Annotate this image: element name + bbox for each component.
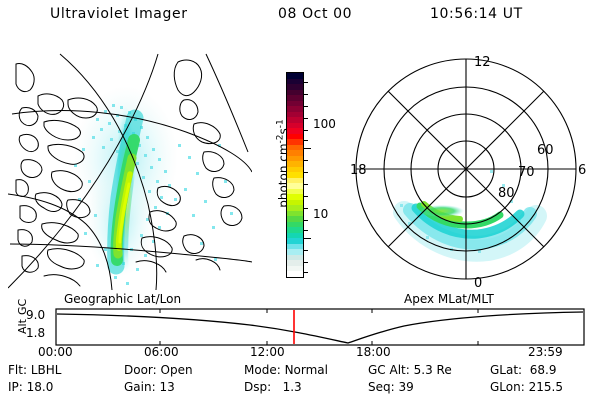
status-readout: Flt: LBHL Door: Open Mode: Normal GC Alt… [0, 363, 600, 399]
uvi-display: Ultraviolet Imager 08 Oct 00 10:56:14 UT [0, 0, 600, 400]
colorbar-panel: photon cm-2s-1 100 10 [255, 48, 345, 292]
polar-emission-layer [400, 170, 536, 253]
geographic-panel-caption: Geographic Lat/Lon [64, 292, 181, 306]
colorbar-minor-tick-9 [304, 196, 308, 197]
colorbar-minor-tick-10 [304, 208, 308, 209]
polar-grid-spokes [356, 59, 576, 279]
colorbar-gradient [286, 72, 304, 278]
colorbar-band-36 [287, 271, 303, 277]
orbit-xtick-4: 23:59 [528, 345, 563, 359]
polar-mlt-label-0: 0 [474, 276, 482, 291]
polar-mlt-label-12: 12 [474, 55, 491, 70]
colorbar-label-100: 100 [313, 118, 336, 130]
colorbar-minor-tick-7 [304, 172, 308, 173]
orbit-xtick-2: 12:00 [250, 345, 285, 359]
geographic-map-svg [8, 48, 252, 292]
status-seq: Seq: 39 [368, 380, 414, 394]
page-title: Ultraviolet Imager [50, 6, 188, 22]
colorbar-minor-tick-15 [304, 272, 308, 273]
geographic-map-panel [8, 48, 252, 292]
orbit-altitude-panel [0, 305, 600, 365]
status-ip: IP: 18.0 [8, 380, 53, 394]
polar-mlt-label-18: 18 [350, 163, 367, 178]
colorbar-minor-tick-6 [304, 160, 308, 161]
colorbar-minor-tick-13 [304, 250, 308, 251]
polar-dial-panel: 12 6 0 18 60 70 80 [338, 44, 594, 294]
colorbar-label-10: 10 [313, 208, 328, 220]
orbit-altitude-svg [0, 305, 600, 365]
colorbar-minor-tick-5 [304, 140, 308, 141]
colorbar-minor-tick-8 [304, 184, 308, 185]
colorbar-major-tick-1 [304, 238, 311, 239]
colorbar-minor-tick-0 [304, 82, 308, 83]
status-dsp: Dsp: 1.3 [244, 380, 302, 394]
orbit-xtick-0: 00:00 [38, 345, 73, 359]
colorbar-tick-marks [304, 72, 312, 278]
header-bar: Ultraviolet Imager 08 Oct 00 10:56:14 UT [0, 4, 600, 28]
status-gain: Gain: 13 [124, 380, 175, 394]
polar-dial-svg: 12 6 0 18 60 70 80 [338, 44, 594, 294]
polar-mlt-label-6: 6 [578, 163, 586, 178]
observation-time: 10:56:14 UT [430, 6, 523, 22]
geographic-emission-layer [74, 86, 233, 285]
status-glat: GLat: 68.9 [490, 363, 556, 377]
colorbar-major-tick-0 [304, 148, 311, 149]
status-mode: Mode: Normal [244, 363, 328, 377]
colorbar-minor-tick-1 [304, 94, 308, 95]
observation-date: 08 Oct 00 [278, 6, 352, 22]
colorbar-minor-tick-14 [304, 262, 308, 263]
colorbar-minor-tick-3 [304, 118, 308, 119]
polar-mlat-label-80: 80 [498, 186, 515, 201]
colorbar-minor-tick-12 [304, 230, 308, 231]
polar-mlat-label-60: 60 [537, 143, 554, 158]
colorbar-minor-tick-4 [304, 130, 308, 131]
polar-mlat-label-70: 70 [518, 165, 535, 180]
status-glon: GLon: 215.5 [490, 380, 563, 394]
status-flt: Flt: LBHL [8, 363, 61, 377]
polar-panel-caption: Apex MLat/MLT [404, 292, 494, 306]
status-door: Door: Open [124, 363, 193, 377]
orbit-xtick-1: 06:00 [144, 345, 179, 359]
orbit-xtick-3: 18:00 [356, 345, 391, 359]
status-gc-alt: GC Alt: 5.3 Re [368, 363, 452, 377]
colorbar-minor-tick-2 [304, 106, 308, 107]
colorbar-minor-tick-11 [304, 220, 308, 221]
